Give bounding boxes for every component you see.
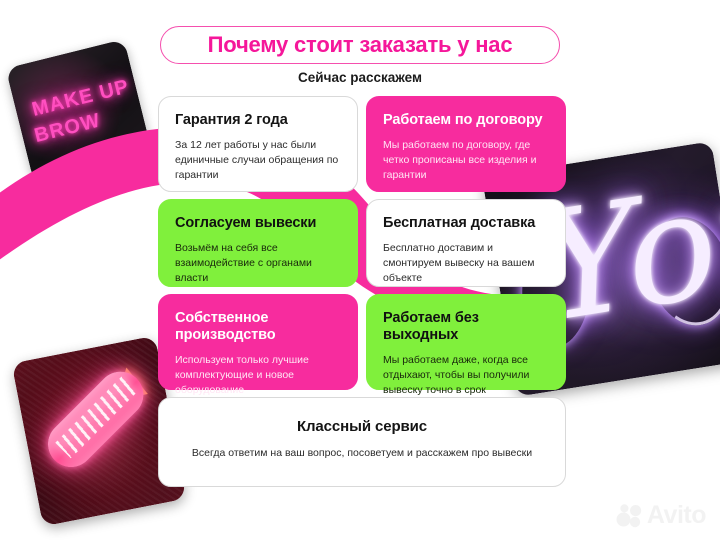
page-title: Почему стоит заказать у нас [208, 32, 513, 58]
benefit-card-title: Классный сервис [175, 418, 549, 436]
benefit-card-body: Всегда ответим на ваш вопрос, посоветуем… [175, 446, 549, 462]
benefit-card-body: Бесплатно доставим и смонтируем вывеску … [383, 241, 549, 286]
benefit-card-production: Собственное производство Используем толь… [158, 294, 358, 390]
benefit-card-contract: Работаем по договору Мы работаем по дого… [366, 96, 566, 192]
benefit-card-title: Собственное производство [175, 310, 341, 344]
benefits-grid: Гарантия 2 года За 12 лет работы у нас б… [158, 96, 566, 494]
page-title-pill: Почему стоит заказать у нас [160, 26, 560, 64]
promo-banner: MAKE UP BROW You Почему стоит заказать у… [0, 0, 720, 540]
benefits-row-2: Согласуем вывески Возьмём на себя все вз… [158, 199, 566, 287]
benefit-card-service: Классный сервис Всегда ответим на ваш во… [158, 397, 566, 487]
benefit-card-title: Гарантия 2 года [175, 112, 341, 129]
avito-wordmark: Avito [647, 503, 706, 528]
benefits-row-1: Гарантия 2 года За 12 лет работы у нас б… [158, 96, 566, 192]
benefit-card-title: Работаем по договору [383, 112, 549, 129]
benefit-card-guarantee: Гарантия 2 года За 12 лет работы у нас б… [158, 96, 358, 192]
benefit-card-body: За 12 лет работы у нас были единичные сл… [175, 138, 341, 183]
benefit-card-body: Возьмём на себя все взаимодействие с орг… [175, 241, 341, 286]
benefit-card-approval: Согласуем вывески Возьмём на себя все вз… [158, 199, 358, 287]
avito-logo-icon [616, 504, 643, 528]
benefit-card-delivery: Бесплатная доставка Бесплатно доставим и… [366, 199, 566, 287]
benefit-card-title: Бесплатная доставка [383, 215, 549, 232]
benefits-row-4: Классный сервис Всегда ответим на ваш во… [158, 397, 566, 487]
benefits-row-3: Собственное производство Используем толь… [158, 294, 566, 390]
benefit-card-body: Используем только лучшие комплектующие и… [175, 353, 341, 398]
benefit-card-body: Мы работаем по договору, где четко пропи… [383, 138, 549, 183]
makeup-brow-neon-photo: MAKE UP BROW [6, 39, 153, 183]
page-subtitle: Сейчас расскажем [160, 70, 560, 85]
benefit-card-title: Работаем без выходных [383, 310, 549, 344]
avito-watermark: Avito [616, 503, 706, 528]
benefit-card-body: Мы работаем даже, когда все отдыхают, чт… [383, 353, 549, 398]
benefit-card-no-days-off: Работаем без выходных Мы работаем даже, … [366, 294, 566, 390]
benefit-card-title: Согласуем вывески [175, 215, 341, 232]
